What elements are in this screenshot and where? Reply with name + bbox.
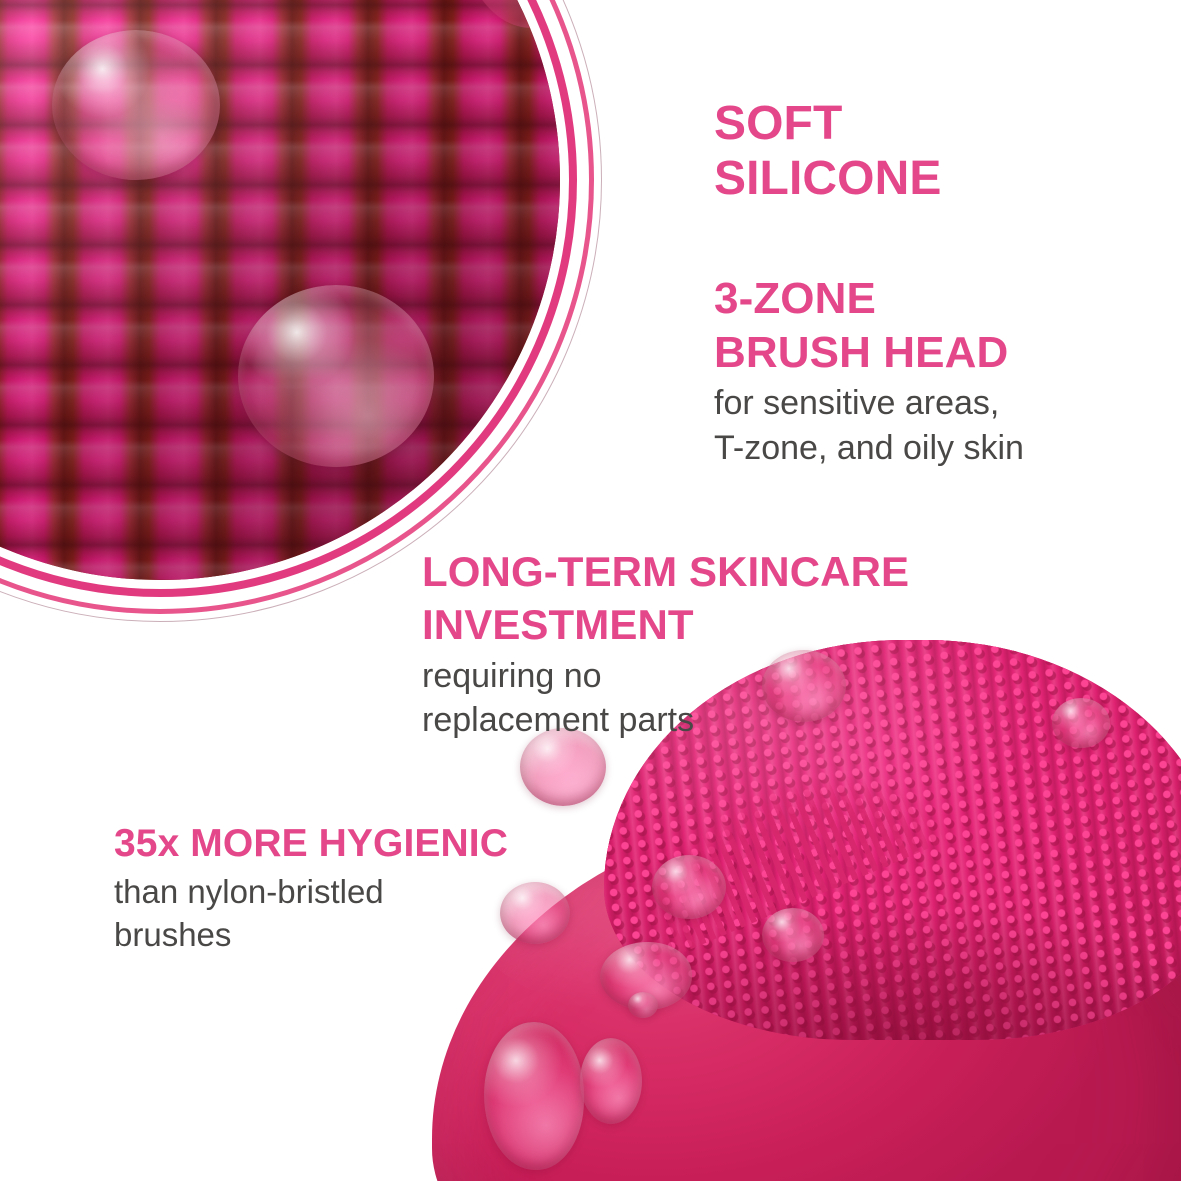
water-droplet <box>484 1022 584 1170</box>
headline-line: 3-ZONE <box>714 272 1024 326</box>
feature-soft-silicone: SOFT SILICONE <box>714 97 942 206</box>
feature-long-term-skincare-investment: LONG-TERM SKINCARE INVESTMENT requiring … <box>422 546 909 742</box>
headline-line: SILICONE <box>714 152 942 207</box>
water-droplet <box>628 992 658 1018</box>
feature-subtext: than nylon-bristled brushes <box>114 870 508 957</box>
subtext-line: requiring no <box>422 654 909 698</box>
headline-line: SOFT <box>714 97 942 152</box>
feature-headline: 35x MORE HYGIENIC <box>114 820 508 868</box>
feature-more-hygienic: 35x MORE HYGIENIC than nylon-bristled br… <box>114 820 508 957</box>
headline-line: 35x MORE HYGIENIC <box>114 820 508 868</box>
headline-line: BRUSH HEAD <box>714 326 1024 380</box>
marketing-infographic: SOFT SILICONE 3-ZONE BRUSH HEAD for sens… <box>0 0 1181 1181</box>
water-droplet <box>238 285 434 467</box>
headline-line: INVESTMENT <box>422 599 909 652</box>
water-droplet <box>500 882 570 944</box>
feature-three-zone-brush-head: 3-ZONE BRUSH HEAD for sensitive areas, T… <box>714 272 1024 470</box>
subtext-line: for sensitive areas, <box>714 381 1024 425</box>
feature-headline: 3-ZONE BRUSH HEAD <box>714 272 1024 379</box>
subtext-line: than nylon-bristled <box>114 870 508 914</box>
water-droplet <box>762 908 824 962</box>
water-droplet <box>652 855 726 919</box>
water-droplet <box>1052 698 1110 748</box>
subtext-line: brushes <box>114 913 508 957</box>
feature-headline: LONG-TERM SKINCARE INVESTMENT <box>422 546 909 651</box>
water-droplet <box>580 1038 642 1124</box>
feature-subtext: for sensitive areas, T-zone, and oily sk… <box>714 381 1024 469</box>
subtext-line: replacement parts <box>422 698 909 742</box>
subtext-line: T-zone, and oily skin <box>714 426 1024 470</box>
silicone-bristle-macro-image <box>0 0 560 580</box>
feature-subtext: requiring no replacement parts <box>422 654 909 742</box>
headline-line: LONG-TERM SKINCARE <box>422 546 909 599</box>
water-droplet <box>52 30 220 180</box>
feature-headline: SOFT SILICONE <box>714 97 942 206</box>
bristle-macro-inset <box>0 0 560 580</box>
